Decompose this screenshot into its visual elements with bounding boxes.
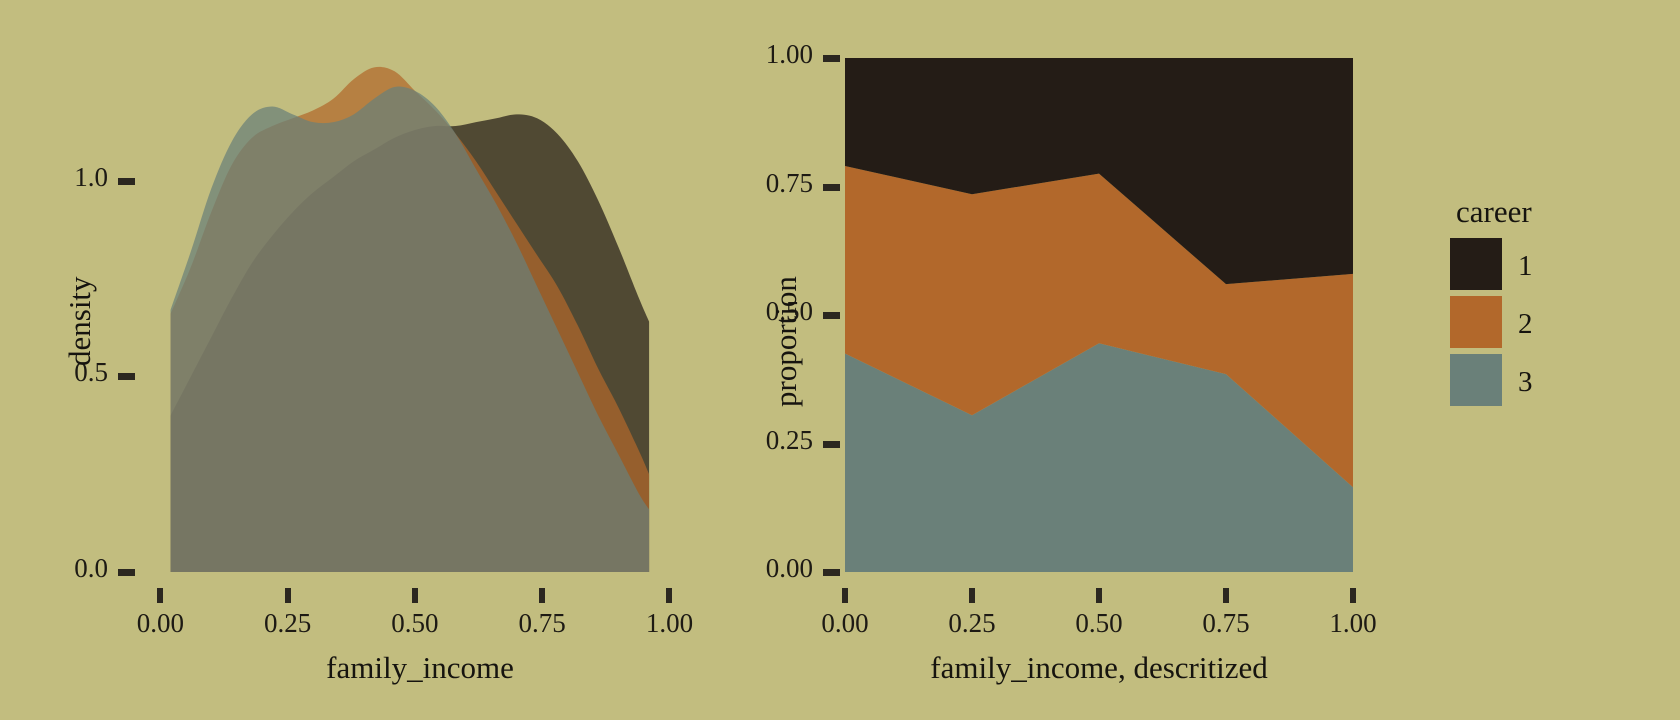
proportion-xtick-mark	[842, 588, 848, 603]
proportion-xtick-mark	[1350, 588, 1356, 603]
legend-label-career-1: 1	[1518, 250, 1533, 283]
proportion-ytick-mark	[823, 441, 840, 448]
legend-swatch-career-2[interactable]	[1450, 296, 1502, 348]
proportion-ytick-mark	[823, 55, 840, 62]
legend-label-career-3: 3	[1518, 366, 1533, 399]
density-ytick-label: 0.0	[0, 553, 108, 584]
figure-canvas: 0.0 0.5 1.0 0.00 0.25 0.50 0.75 1.00 fam…	[0, 0, 1680, 720]
proportion-ytick-label: 1.00	[613, 39, 813, 70]
proportion-xtick-label: 1.00	[1283, 608, 1423, 639]
legend-swatch-career-1[interactable]	[1450, 238, 1502, 290]
density-ytick-mark	[118, 178, 135, 185]
proportion-xtick-mark	[1096, 588, 1102, 603]
density-xtick-label: 1.00	[599, 608, 739, 639]
density-xtick-mark	[157, 588, 163, 603]
density-xtick-label: 0.75	[472, 608, 612, 639]
proportion-ytick-mark	[823, 312, 840, 319]
proportion-ytick-label: 0.00	[613, 553, 813, 584]
proportion-ytick-label: 0.75	[613, 168, 813, 199]
proportion-xtick-mark	[969, 588, 975, 603]
proportion-xtick-label: 0.25	[902, 608, 1042, 639]
proportion-x-axis-title: family_income, descritized	[930, 650, 1267, 686]
proportion-ytick-mark	[823, 569, 840, 576]
proportion-y-axis-title: proportion	[768, 276, 804, 407]
density-ytick-label: 1.0	[0, 162, 108, 193]
proportion-ytick-mark	[823, 184, 840, 191]
density-x-axis-title: family_income	[326, 650, 514, 686]
proportion-xtick-label: 0.75	[1156, 608, 1296, 639]
density-xtick-mark	[539, 588, 545, 603]
density-xtick-label: 0.50	[345, 608, 485, 639]
density-xtick-mark	[666, 588, 672, 603]
legend-swatch-career-3[interactable]	[1450, 354, 1502, 406]
legend-title: career	[1456, 194, 1532, 230]
density-xtick-mark	[412, 588, 418, 603]
proportion-plot-panel: 0.00 0.25 0.50 0.75 1.00 0.00 0.25 0.50 …	[740, 0, 1440, 720]
proportion-xtick-label: 0.00	[775, 608, 915, 639]
density-y-axis-title: density	[62, 276, 98, 366]
legend: career 1 2 3	[1440, 0, 1680, 720]
density-xtick-mark	[285, 588, 291, 603]
legend-label-career-2: 2	[1518, 308, 1533, 341]
density-plot-panel: 0.0 0.5 1.0 0.00 0.25 0.50 0.75 1.00 fam…	[0, 0, 740, 720]
density-ytick-mark	[118, 373, 135, 380]
proportion-ytick-label: 0.25	[613, 425, 813, 456]
density-xtick-label: 0.00	[90, 608, 230, 639]
density-xtick-label: 0.25	[218, 608, 358, 639]
density-ytick-mark	[118, 569, 135, 576]
proportion-xtick-label: 0.50	[1029, 608, 1169, 639]
proportion-xtick-mark	[1223, 588, 1229, 603]
